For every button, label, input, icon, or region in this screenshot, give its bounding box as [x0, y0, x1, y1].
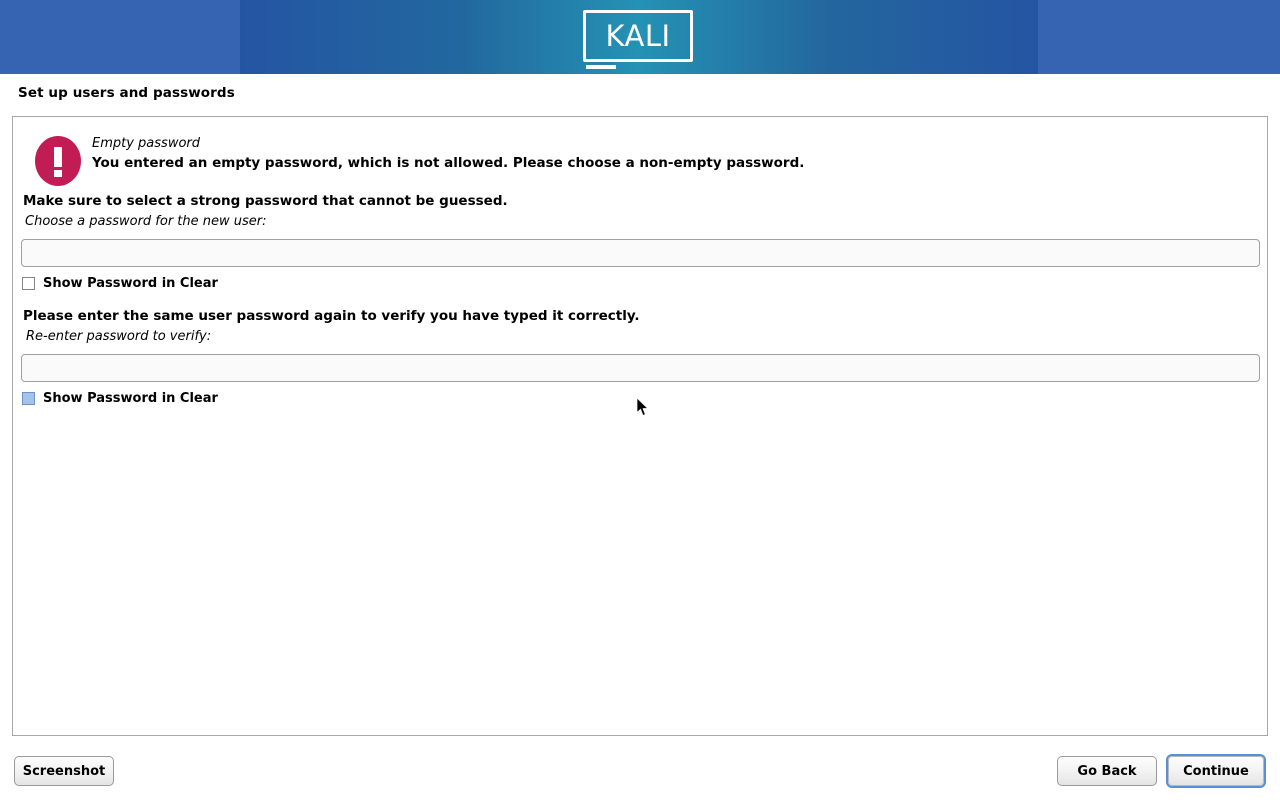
exclamation-bar: [54, 147, 62, 167]
strong-password-hint: Make sure to select a strong password th…: [23, 193, 508, 209]
show-password-checkbox-1-label: Show Password in Clear: [43, 276, 218, 291]
show-password-checkbox-2[interactable]: [22, 392, 35, 405]
kali-logo: KALI: [583, 10, 697, 66]
page-title: Set up users and passwords: [18, 85, 235, 101]
kali-logo-text: KALI: [583, 10, 693, 62]
screenshot-button[interactable]: Screenshot: [14, 756, 114, 786]
password-label: Choose a password for the new user:: [25, 214, 267, 229]
kali-banner: KALI: [0, 0, 1280, 74]
password-verify-input[interactable]: [21, 354, 1260, 382]
go-back-button[interactable]: Go Back: [1057, 756, 1157, 786]
installer-screen: KALI Set up users and passwords Empty pa…: [0, 0, 1280, 800]
error-exclamation-icon: [35, 136, 81, 186]
show-password-checkbox-2-label: Show Password in Clear: [43, 391, 218, 406]
show-password-checkbox-1-row[interactable]: Show Password in Clear: [22, 276, 218, 291]
show-password-checkbox-1[interactable]: [22, 277, 35, 290]
main-panel: Empty password You entered an empty pass…: [12, 116, 1268, 736]
password-input[interactable]: [21, 239, 1260, 267]
alert-title: Empty password: [92, 136, 200, 151]
exclamation-dot: [54, 170, 62, 177]
continue-button[interactable]: Continue: [1168, 756, 1264, 786]
show-password-checkbox-2-row[interactable]: Show Password in Clear: [22, 391, 218, 406]
kali-logo-underline: [586, 65, 616, 69]
password-verify-label: Re-enter password to verify:: [26, 329, 211, 344]
verify-password-hint: Please enter the same user password agai…: [23, 308, 640, 324]
alert-message: You entered an empty password, which is …: [92, 155, 804, 171]
